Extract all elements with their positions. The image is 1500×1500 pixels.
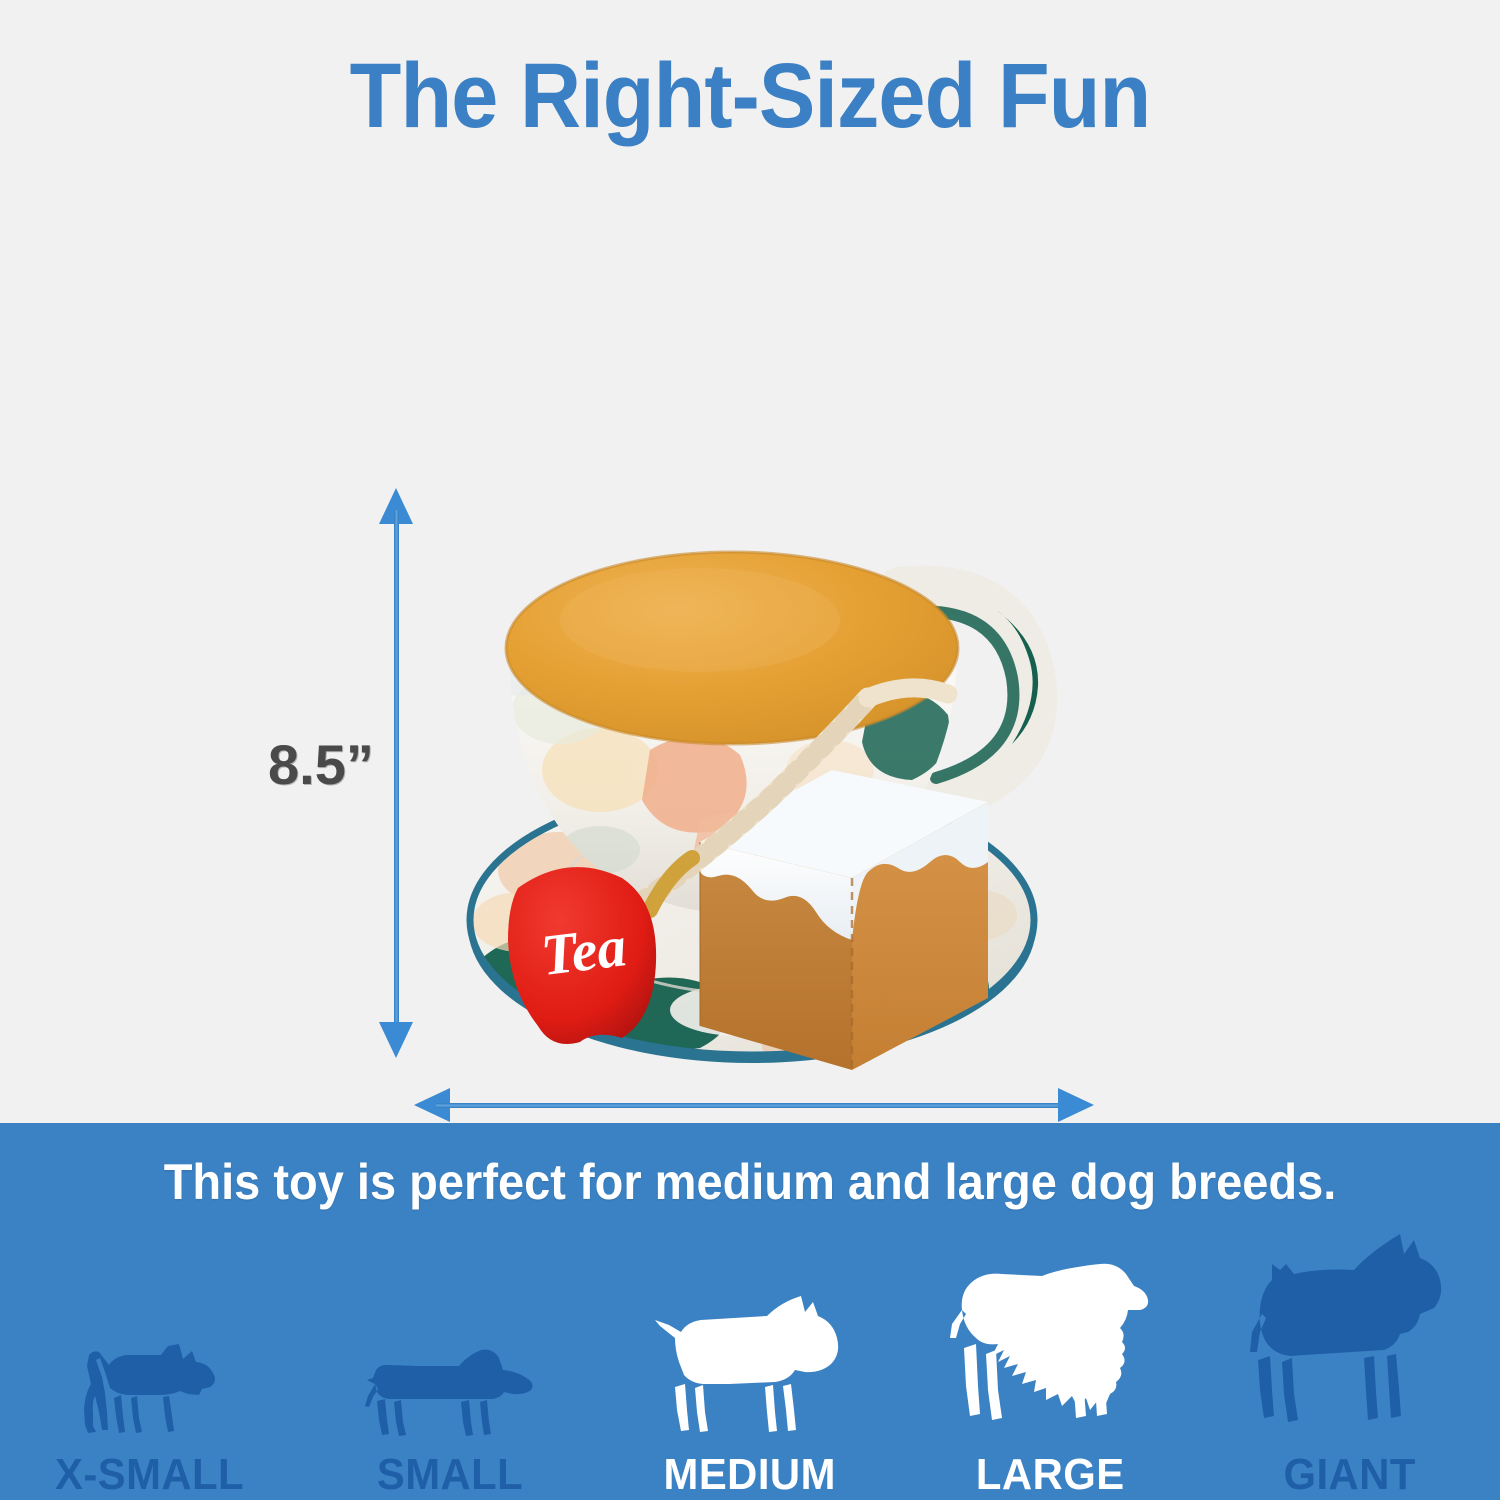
banner-headline: This toy is perfect for medium and large…: [45, 1153, 1455, 1211]
tea-tag-text: Tea: [538, 913, 630, 988]
height-dimension-label: 8.5”: [268, 732, 374, 797]
bull-terrier-dog-icon: [655, 1292, 845, 1444]
size-label-medium: MEDIUM: [664, 1450, 836, 1500]
size-option-medium[interactable]: MEDIUM: [600, 1228, 900, 1500]
size-option-x-small[interactable]: X-SMALL: [0, 1228, 300, 1500]
size-option-giant[interactable]: GIANT: [1200, 1228, 1500, 1500]
size-option-large[interactable]: LARGE: [900, 1228, 1200, 1500]
size-label-small: SMALL: [377, 1450, 523, 1500]
double-headed-horizontal-arrow-icon: [414, 1088, 1094, 1122]
golden-retriever-dog-icon: [950, 1258, 1150, 1444]
arrow-shaft-vertical: [394, 510, 399, 1036]
product-dimension-panel: 8.5”: [0, 170, 1500, 1120]
size-recommendation-banner: This toy is perfect for medium and large…: [0, 1123, 1500, 1500]
size-label-giant: GIANT: [1284, 1450, 1416, 1500]
infographic-page: The Right-Sized Fun 8.5”: [0, 0, 1500, 1500]
product-image: Tea: [400, 470, 1100, 1090]
arrow-head-right-icon: [1058, 1088, 1094, 1122]
size-label-large: LARGE: [976, 1450, 1125, 1500]
size-option-small[interactable]: SMALL: [300, 1228, 600, 1500]
tea-bag-tag: Tea: [508, 867, 656, 1044]
page-title: The Right-Sized Fun: [60, 44, 1440, 149]
size-scale: X-SMALL SMALL MEDIUM LA: [0, 1218, 1500, 1500]
chihuahua-dog-icon: [75, 1332, 225, 1444]
size-label-x-small: X-SMALL: [55, 1450, 244, 1500]
dachshund-dog-icon: [363, 1344, 538, 1444]
great-dane-dog-icon: [1250, 1234, 1450, 1444]
arrow-shaft-horizontal: [436, 1103, 1072, 1108]
